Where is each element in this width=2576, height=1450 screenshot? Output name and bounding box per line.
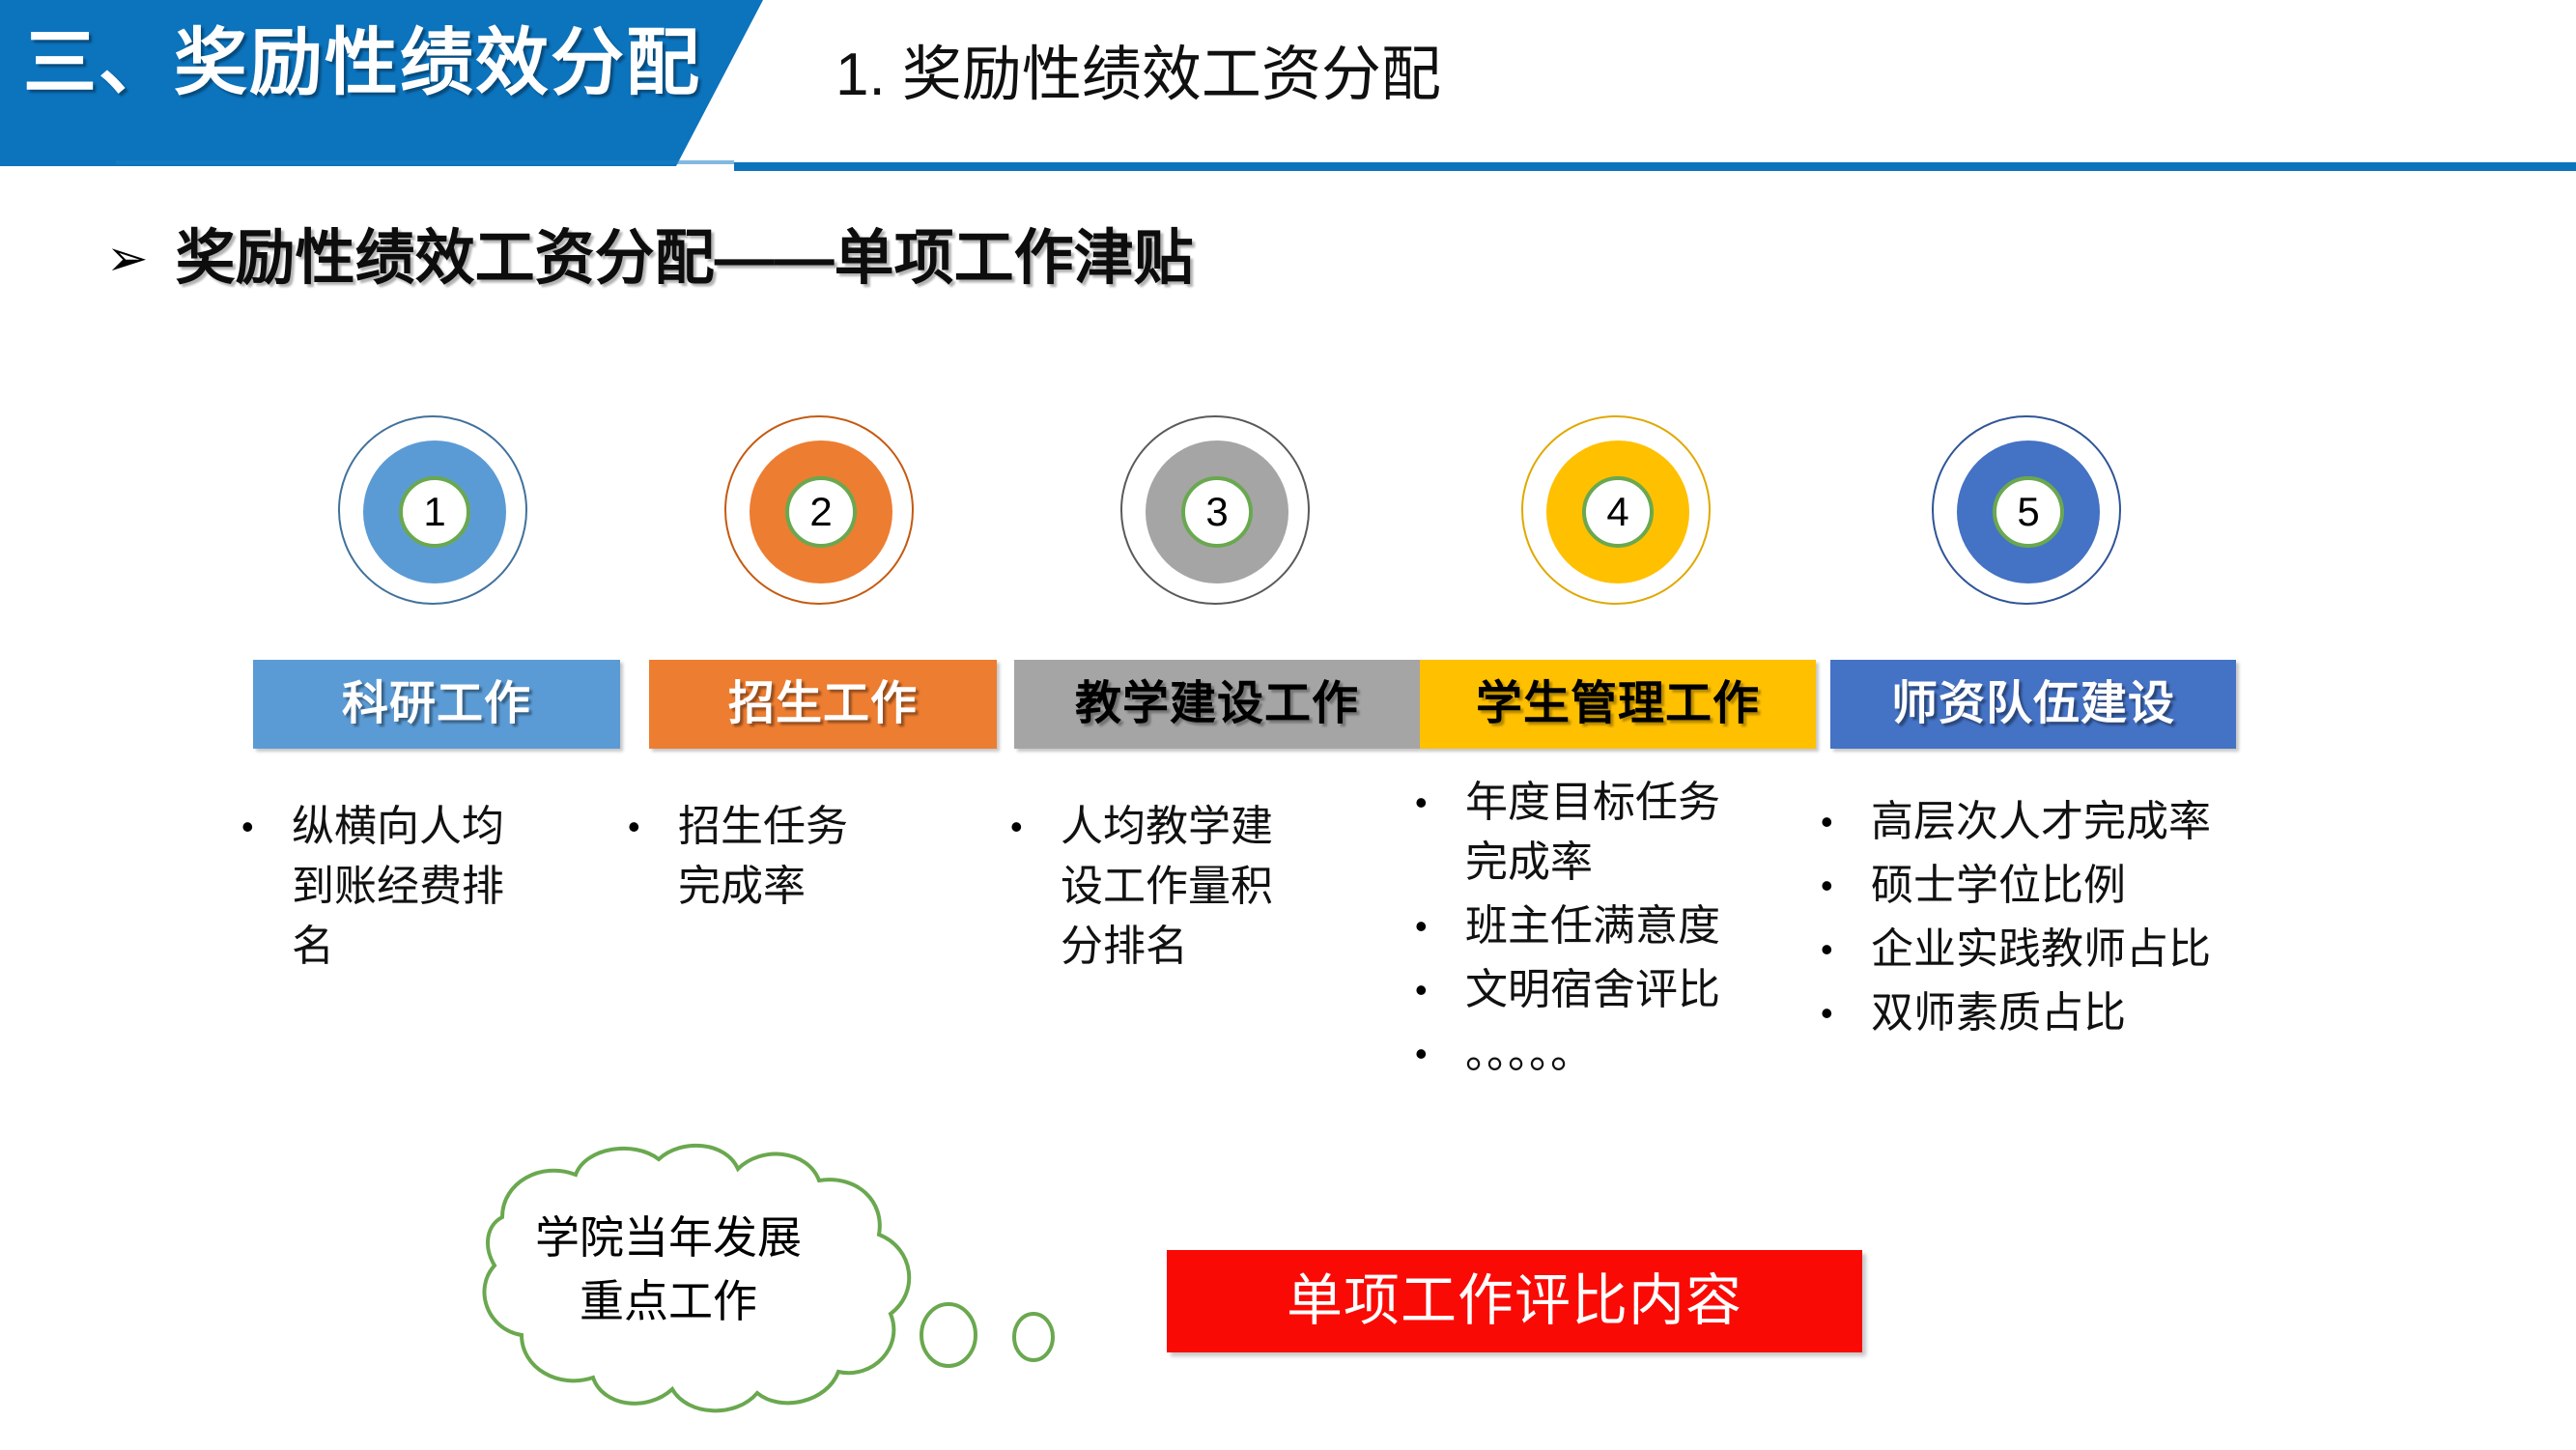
badge-number-2: 2 (809, 492, 832, 532)
bullet-dot-icon: • (628, 797, 678, 857)
process-column-3: 3 教学建设工作 • 人均教学建设工作量积分排名 (1024, 415, 1410, 609)
category-label-text-1: 科研工作 (342, 681, 531, 727)
list-item: • 人均教学建设工作量积分排名 (1010, 797, 1397, 977)
category-label-text-3: 教学建设工作 (1075, 681, 1359, 727)
cloud-text-line-2: 重点工作 (495, 1269, 842, 1333)
category-label-2: 招生工作 (649, 660, 997, 749)
category-label-text-5: 师资队伍建设 (1891, 681, 2175, 727)
bullet-dot-icon: • (1821, 983, 1871, 1043)
badge-inner-circle-2: 2 (785, 476, 857, 548)
badge-number-3: 3 (1205, 492, 1228, 532)
subtitle-text: 奖励性绩效工资分配——单项工作津贴 (176, 224, 1194, 293)
bullet-list-5: • 高层次人才完成率 • 硕士学位比例 • 企业实践教师占比 • 双师素质占比 (1821, 792, 2362, 1047)
header-chapter-title: 三、奖励性绩效分配 (23, 17, 719, 110)
bullet-text: 班主任满意度 (1465, 896, 1720, 956)
bullet-text: 纵横向人均到账经费排名 (292, 797, 533, 977)
bullet-list-4: • 年度目标任务完成率 • 班主任满意度 • 文明宿舍评比 • 。。。。。 (1415, 773, 1821, 1088)
slide-canvas: 三、奖励性绩效分配 1. 奖励性绩效工资分配 ➢ 奖励性绩效工资分配——单项工作… (0, 0, 2576, 1450)
slide-header: 三、奖励性绩效分配 1. 奖励性绩效工资分配 (0, 0, 2576, 174)
step-badge-2: 2 (724, 415, 918, 609)
list-item: • 。。。。。 (1415, 1024, 1821, 1084)
list-item: • 硕士学位比例 (1821, 856, 2362, 916)
cloud-text-line-1: 学院当年发展 (495, 1206, 842, 1269)
list-item: • 双师素质占比 (1821, 983, 2362, 1043)
thought-cloud: 学院当年发展 重点工作 (386, 1140, 1101, 1420)
bullet-dot-icon: • (1415, 1024, 1465, 1084)
bullet-text: 高层次人才完成率 (1871, 792, 2211, 852)
badge-inner-circle-4: 4 (1582, 476, 1654, 548)
bullet-text: 招生任务完成率 (678, 797, 871, 917)
highlight-banner-text: 单项工作评比内容 (1287, 1273, 1742, 1329)
badge-inner-circle-1: 1 (399, 476, 470, 548)
subtitle-row: ➢ 奖励性绩效工资分配——单项工作津贴 (106, 224, 1194, 293)
bullet-dot-icon: • (1821, 920, 1871, 980)
badge-inner-circle-3: 3 (1181, 476, 1253, 548)
step-badge-1: 1 (338, 415, 531, 609)
bullet-text: 硕士学位比例 (1871, 856, 2126, 916)
badge-number-4: 4 (1606, 492, 1628, 532)
list-item: • 年度目标任务完成率 (1415, 773, 1821, 893)
bullet-text: 。。。。。 (1465, 1024, 1593, 1084)
cloud-text-block: 学院当年发展 重点工作 (495, 1206, 842, 1333)
list-item: • 班主任满意度 (1415, 896, 1821, 956)
step-badge-4: 4 (1521, 415, 1714, 609)
header-section-title: 1. 奖励性绩效工资分配 (835, 29, 1441, 122)
process-column-4: 4 学生管理工作 • 年度目标任务完成率 • 班主任满意度 • 文明宿舍评比 (1425, 415, 1811, 609)
bullet-text: 年度目标任务完成率 (1465, 773, 1745, 893)
bullet-text: 企业实践教师占比 (1871, 920, 2211, 980)
bullet-text: 双师素质占比 (1871, 983, 2126, 1043)
list-item: • 企业实践教师占比 (1821, 920, 2362, 980)
bullet-dot-icon: • (1821, 792, 1871, 852)
bullet-dot-icon: • (1010, 797, 1061, 857)
highlight-banner: 单项工作评比内容 (1167, 1250, 1862, 1352)
category-label-3: 教学建设工作 (1014, 660, 1420, 749)
process-column-5: 5 师资队伍建设 • 高层次人才完成率 • 硕士学位比例 • 企业实践教师占比 (1845, 415, 2366, 609)
bullet-dot-icon: • (1415, 896, 1465, 956)
bullet-dot-icon: • (1415, 960, 1465, 1020)
bullet-dot-icon: • (241, 797, 292, 857)
category-label-text-2: 招生工作 (728, 681, 918, 727)
category-label-5: 师资队伍建设 (1830, 660, 2236, 749)
list-item: • 纵横向人均到账经费排名 (241, 797, 609, 977)
list-item: • 招生任务完成率 (628, 797, 995, 917)
process-column-1: 1 科研工作 • 纵横向人均到账经费排名 (241, 415, 628, 609)
header-rule-secondary (116, 160, 734, 164)
category-label-text-4: 学生管理工作 (1476, 681, 1760, 727)
category-label-1: 科研工作 (253, 660, 620, 749)
bullet-text: 文明宿舍评比 (1465, 960, 1720, 1020)
process-column-2: 2 招生工作 • 招生任务完成率 (628, 415, 1014, 609)
list-item: • 高层次人才完成率 (1821, 792, 2362, 852)
badge-number-1: 1 (423, 492, 445, 532)
step-badge-3: 3 (1120, 415, 1314, 609)
bullet-text: 人均教学建设工作量积分排名 (1061, 797, 1302, 977)
bullet-list-3: • 人均教学建设工作量积分排名 (1010, 797, 1397, 981)
process-columns: 1 科研工作 • 纵横向人均到账经费排名 2 (241, 415, 2366, 1188)
category-label-4: 学生管理工作 (1420, 660, 1816, 749)
arrow-bullet-icon: ➢ (106, 234, 149, 284)
bullet-dot-icon: • (1415, 773, 1465, 833)
step-badge-5: 5 (1932, 415, 2125, 609)
list-item: • 文明宿舍评比 (1415, 960, 1821, 1020)
bullet-list-2: • 招生任务完成率 (628, 797, 995, 921)
badge-number-5: 5 (2017, 492, 2039, 532)
badge-inner-circle-5: 5 (1993, 476, 2064, 548)
bullet-dot-icon: • (1821, 856, 1871, 916)
bullet-list-1: • 纵横向人均到账经费排名 (241, 797, 609, 981)
header-rule-primary (734, 162, 2576, 171)
